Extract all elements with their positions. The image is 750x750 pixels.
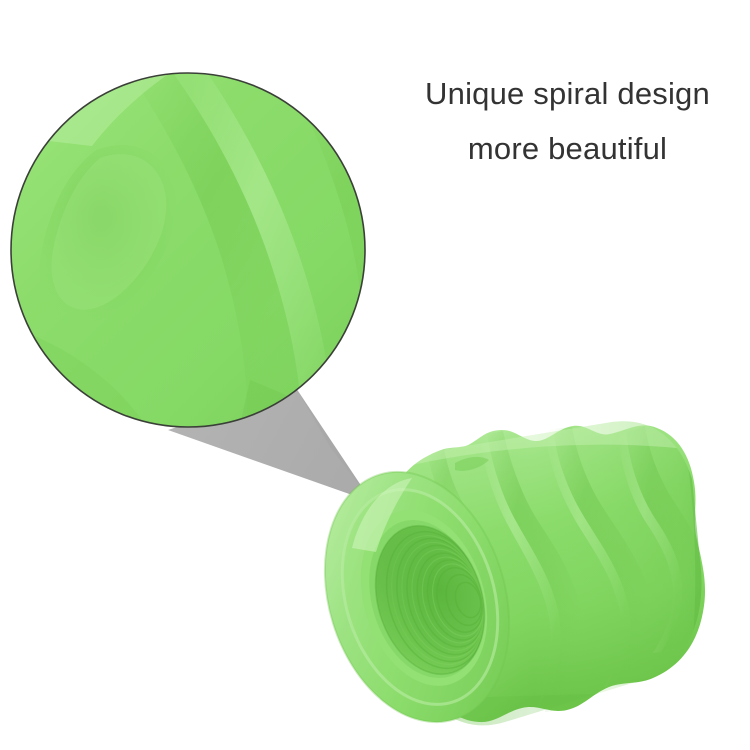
illustration-canvas (0, 0, 750, 750)
product-feature-image: Unique spiral design more beautiful (0, 0, 750, 750)
